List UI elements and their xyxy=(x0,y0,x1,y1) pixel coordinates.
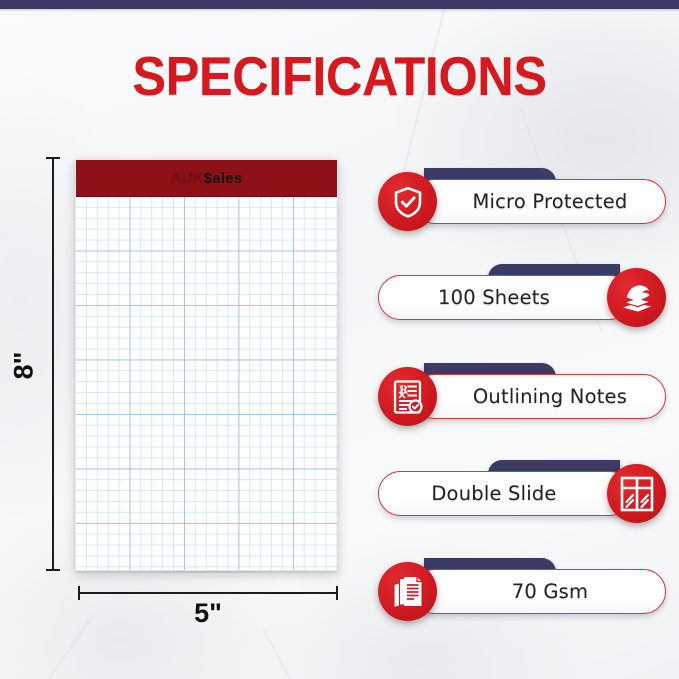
shield-check-icon xyxy=(378,172,437,231)
stacked-sheets-icon xyxy=(607,268,666,327)
feature-label: Outlining Notes xyxy=(473,385,627,408)
brand-logo-part-one: AUK xyxy=(171,170,204,187)
notepad-graph-grid xyxy=(76,197,337,570)
feature-row-double-slide[interactable]: Double Slide xyxy=(378,460,666,520)
width-dimension-label: 5" xyxy=(78,598,338,629)
brand-logo: AUK$ales xyxy=(171,170,243,187)
feature-label: 70 Gsm xyxy=(512,580,588,603)
height-dimension-line xyxy=(52,157,54,571)
feature-pill[interactable]: Micro Protected xyxy=(412,179,666,224)
dimension-cap-bottom xyxy=(46,569,60,571)
height-dimension-label: 8" xyxy=(8,352,39,380)
feature-list: Micro Protected 100 Sheets xyxy=(378,160,666,660)
feature-pill[interactable]: Double Slide xyxy=(378,471,632,516)
paper-crease xyxy=(263,629,340,679)
page-title: SPECIFICATIONS xyxy=(27,44,652,108)
brand-logo-part-two: $ales xyxy=(204,170,243,187)
feature-label: Double Slide xyxy=(431,482,556,505)
window-grid-icon xyxy=(607,464,666,523)
notepad-header-band: AUK$ales xyxy=(76,160,337,197)
feature-pill[interactable]: 100 Sheets xyxy=(378,275,632,320)
infographic-canvas: SPECIFICATIONS AUK$ales 8" 5" Micro Prot… xyxy=(0,0,679,679)
feature-row-outlining-notes[interactable]: Outlining Notes R xyxy=(378,363,666,423)
top-accent-bar xyxy=(0,0,679,9)
feature-row-100-sheets[interactable]: 100 Sheets xyxy=(378,264,666,324)
multi-document-icon xyxy=(378,562,437,621)
dimension-cap-top xyxy=(46,157,60,159)
notepad-product-image: AUK$ales xyxy=(75,159,338,571)
feature-pill[interactable]: 70 Gsm xyxy=(412,569,666,614)
feature-label: 100 Sheets xyxy=(438,286,550,309)
width-dimension-line xyxy=(78,592,338,594)
feature-row-70-gsm[interactable]: 70 Gsm xyxy=(378,558,666,618)
feature-label: Micro Protected xyxy=(472,190,627,213)
prescription-document-icon: R xyxy=(378,367,437,426)
feature-pill[interactable]: Outlining Notes xyxy=(412,374,666,419)
feature-row-micro-protected[interactable]: Micro Protected xyxy=(378,168,666,228)
